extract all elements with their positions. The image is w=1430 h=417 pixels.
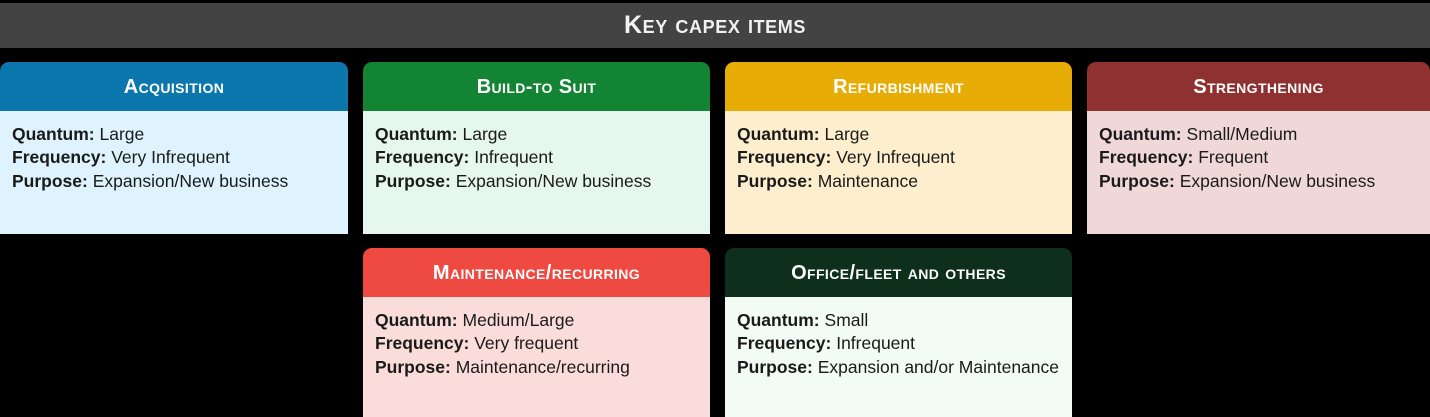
card-build-to-suit[interactable]: Build-to Suit Quantum: Large Frequency: … — [363, 62, 710, 234]
attr-purpose: Purpose: Expansion/New business — [1099, 170, 1418, 193]
card-header-office-fleet-and-others: Office/fleet and others — [725, 248, 1072, 297]
attr-quantum: Quantum: Large — [737, 123, 1060, 146]
attr-label-purpose: Purpose: — [1099, 171, 1175, 191]
card-header-acquisition: Acquisition — [0, 62, 348, 111]
attr-value-purpose: Expansion and/or Maintenance — [818, 357, 1059, 377]
attr-frequency: Frequency: Very Infrequent — [737, 146, 1060, 169]
attr-frequency: Frequency: Infrequent — [737, 332, 1060, 355]
attr-label-quantum: Quantum: — [12, 124, 95, 144]
attr-quantum: Quantum: Small — [737, 309, 1060, 332]
attr-purpose: Purpose: Expansion/New business — [12, 170, 336, 193]
attr-value-frequency: Very Infrequent — [836, 147, 955, 167]
attr-purpose: Purpose: Expansion and/or Maintenance — [737, 356, 1060, 379]
card-body-acquisition: Quantum: Large Frequency: Very Infrequen… — [0, 111, 348, 234]
attr-label-purpose: Purpose: — [737, 357, 813, 377]
attr-quantum: Quantum: Medium/Large — [375, 309, 698, 332]
card-header-refurbishment: Refurbishment — [725, 62, 1072, 111]
attr-value-purpose: Expansion/New business — [1180, 171, 1376, 191]
slide-canvas: Key capex items Acquisition Quantum: Lar… — [0, 0, 1430, 417]
card-title-acquisition: Acquisition — [124, 77, 225, 97]
attr-frequency: Frequency: Very frequent — [375, 332, 698, 355]
attr-value-quantum: Small — [825, 310, 869, 330]
slide-title-bar: Key capex items — [0, 3, 1430, 48]
row-bottom-right-spacer — [1087, 248, 1430, 417]
card-title-office-fleet-and-others: Office/fleet and others — [791, 263, 1006, 283]
attr-label-frequency: Frequency: — [1099, 147, 1193, 167]
attr-purpose: Purpose: Maintenance/recurring — [375, 356, 698, 379]
attr-value-purpose: Expansion/New business — [93, 171, 289, 191]
attr-label-quantum: Quantum: — [737, 124, 820, 144]
card-row-top: Acquisition Quantum: Large Frequency: Ve… — [0, 62, 1430, 234]
attr-label-purpose: Purpose: — [737, 171, 813, 191]
card-office-fleet-and-others[interactable]: Office/fleet and others Quantum: Small F… — [725, 248, 1072, 417]
attr-frequency: Frequency: Very Infrequent — [12, 146, 336, 169]
card-body-refurbishment: Quantum: Large Frequency: Very Infrequen… — [725, 111, 1072, 234]
card-title-refurbishment: Refurbishment — [833, 77, 964, 97]
attr-value-frequency: Very Infrequent — [111, 147, 230, 167]
card-header-strengthening: Strengthening — [1087, 62, 1430, 111]
attr-quantum: Quantum: Small/Medium — [1099, 123, 1418, 146]
attr-label-quantum: Quantum: — [737, 310, 820, 330]
attr-value-quantum: Small/Medium — [1187, 124, 1298, 144]
attr-value-quantum: Medium/Large — [463, 310, 575, 330]
card-title-maintenance-recurring: Maintenance/recurring — [433, 263, 640, 283]
attr-label-frequency: Frequency: — [737, 147, 831, 167]
attr-value-quantum: Large — [825, 124, 870, 144]
card-refurbishment[interactable]: Refurbishment Quantum: Large Frequency: … — [725, 62, 1072, 234]
attr-frequency: Frequency: Frequent — [1099, 146, 1418, 169]
card-body-strengthening: Quantum: Small/Medium Frequency: Frequen… — [1087, 111, 1430, 234]
attr-value-frequency: Infrequent — [836, 333, 915, 353]
card-acquisition[interactable]: Acquisition Quantum: Large Frequency: Ve… — [0, 62, 348, 234]
attr-purpose: Purpose: Expansion/New business — [375, 170, 698, 193]
attr-value-quantum: Large — [100, 124, 145, 144]
attr-label-frequency: Frequency: — [375, 147, 469, 167]
attr-label-quantum: Quantum: — [375, 310, 458, 330]
card-body-maintenance-recurring: Quantum: Medium/Large Frequency: Very fr… — [363, 297, 710, 417]
attr-label-frequency: Frequency: — [12, 147, 106, 167]
attr-value-purpose: Maintenance/recurring — [456, 357, 630, 377]
row-bottom-left-spacer — [0, 248, 348, 417]
card-header-maintenance-recurring: Maintenance/recurring — [363, 248, 710, 297]
attr-label-quantum: Quantum: — [1099, 124, 1182, 144]
attr-quantum: Quantum: Large — [12, 123, 336, 146]
attr-frequency: Frequency: Infrequent — [375, 146, 698, 169]
card-header-build-to-suit: Build-to Suit — [363, 62, 710, 111]
attr-value-frequency: Infrequent — [474, 147, 553, 167]
card-row-bottom: Maintenance/recurring Quantum: Medium/La… — [0, 248, 1430, 417]
attr-label-purpose: Purpose: — [12, 171, 88, 191]
card-title-build-to-suit: Build-to Suit — [477, 77, 597, 97]
attr-purpose: Purpose: Maintenance — [737, 170, 1060, 193]
attr-label-frequency: Frequency: — [375, 333, 469, 353]
attr-label-purpose: Purpose: — [375, 171, 451, 191]
attr-value-frequency: Very frequent — [474, 333, 578, 353]
attr-label-quantum: Quantum: — [375, 124, 458, 144]
page-title: Key capex items — [624, 13, 806, 38]
card-maintenance-recurring[interactable]: Maintenance/recurring Quantum: Medium/La… — [363, 248, 710, 417]
attr-value-purpose: Expansion/New business — [456, 171, 652, 191]
attr-value-frequency: Frequent — [1198, 147, 1268, 167]
attr-label-frequency: Frequency: — [737, 333, 831, 353]
attr-value-purpose: Maintenance — [818, 171, 918, 191]
card-strengthening[interactable]: Strengthening Quantum: Small/Medium Freq… — [1087, 62, 1430, 234]
card-title-strengthening: Strengthening — [1193, 77, 1324, 97]
attr-value-quantum: Large — [463, 124, 508, 144]
card-body-build-to-suit: Quantum: Large Frequency: Infrequent Pur… — [363, 111, 710, 234]
card-body-office-fleet-and-others: Quantum: Small Frequency: Infrequent Pur… — [725, 297, 1072, 417]
attr-quantum: Quantum: Large — [375, 123, 698, 146]
attr-label-purpose: Purpose: — [375, 357, 451, 377]
